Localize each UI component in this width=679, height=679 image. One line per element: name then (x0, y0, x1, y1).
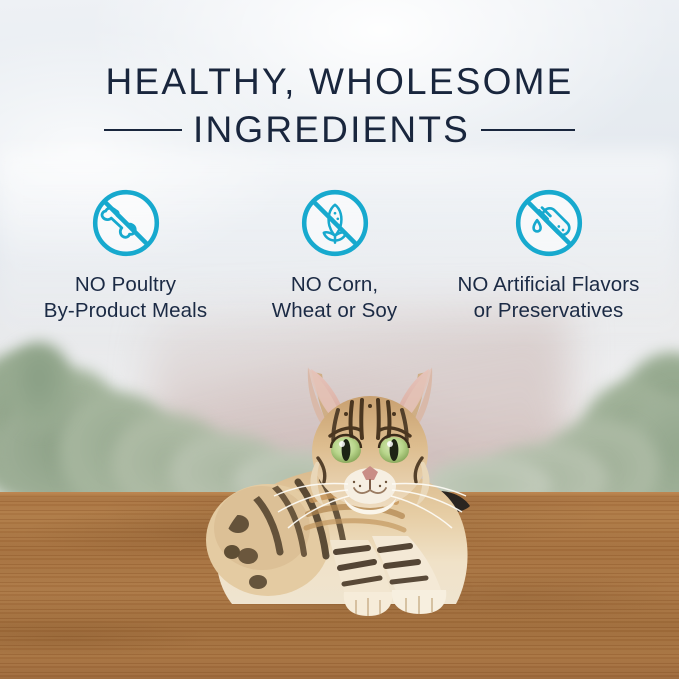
badge-label: NO Corn, Wheat or Soy (272, 272, 397, 324)
badge-label: NO Artificial Flavors or Preservatives (457, 272, 639, 324)
rule-left-icon (104, 129, 182, 131)
headline-line-1: HEALTHY, WHOLESOME (0, 60, 679, 104)
rule-right-icon (481, 129, 575, 131)
badge-no-corn-wheat-soy: NO Corn, Wheat or Soy (235, 188, 435, 324)
badge-no-poultry-byproduct: NO Poultry By-Product Meals (17, 188, 235, 324)
no-corn-icon (300, 188, 370, 258)
no-test-tube-icon (514, 188, 584, 258)
table-front-edge (0, 492, 679, 496)
badge-label: NO Poultry By-Product Meals (44, 272, 207, 324)
headline-line-2: INGREDIENTS (193, 108, 470, 152)
headline-line-2-row: INGREDIENTS (0, 108, 679, 152)
cat-shadow (190, 560, 520, 620)
badge-no-artificial-flavors: NO Artificial Flavors or Preservatives (435, 188, 663, 324)
headline: HEALTHY, WHOLESOME INGREDIENTS (0, 60, 679, 152)
product-feature-image: HEALTHY, WHOLESOME INGREDIENTS NO Poultr… (0, 0, 679, 679)
no-bone-icon (91, 188, 161, 258)
benefit-badges: NO Poultry By-Product Meals NO Corn, Whe… (0, 188, 679, 324)
